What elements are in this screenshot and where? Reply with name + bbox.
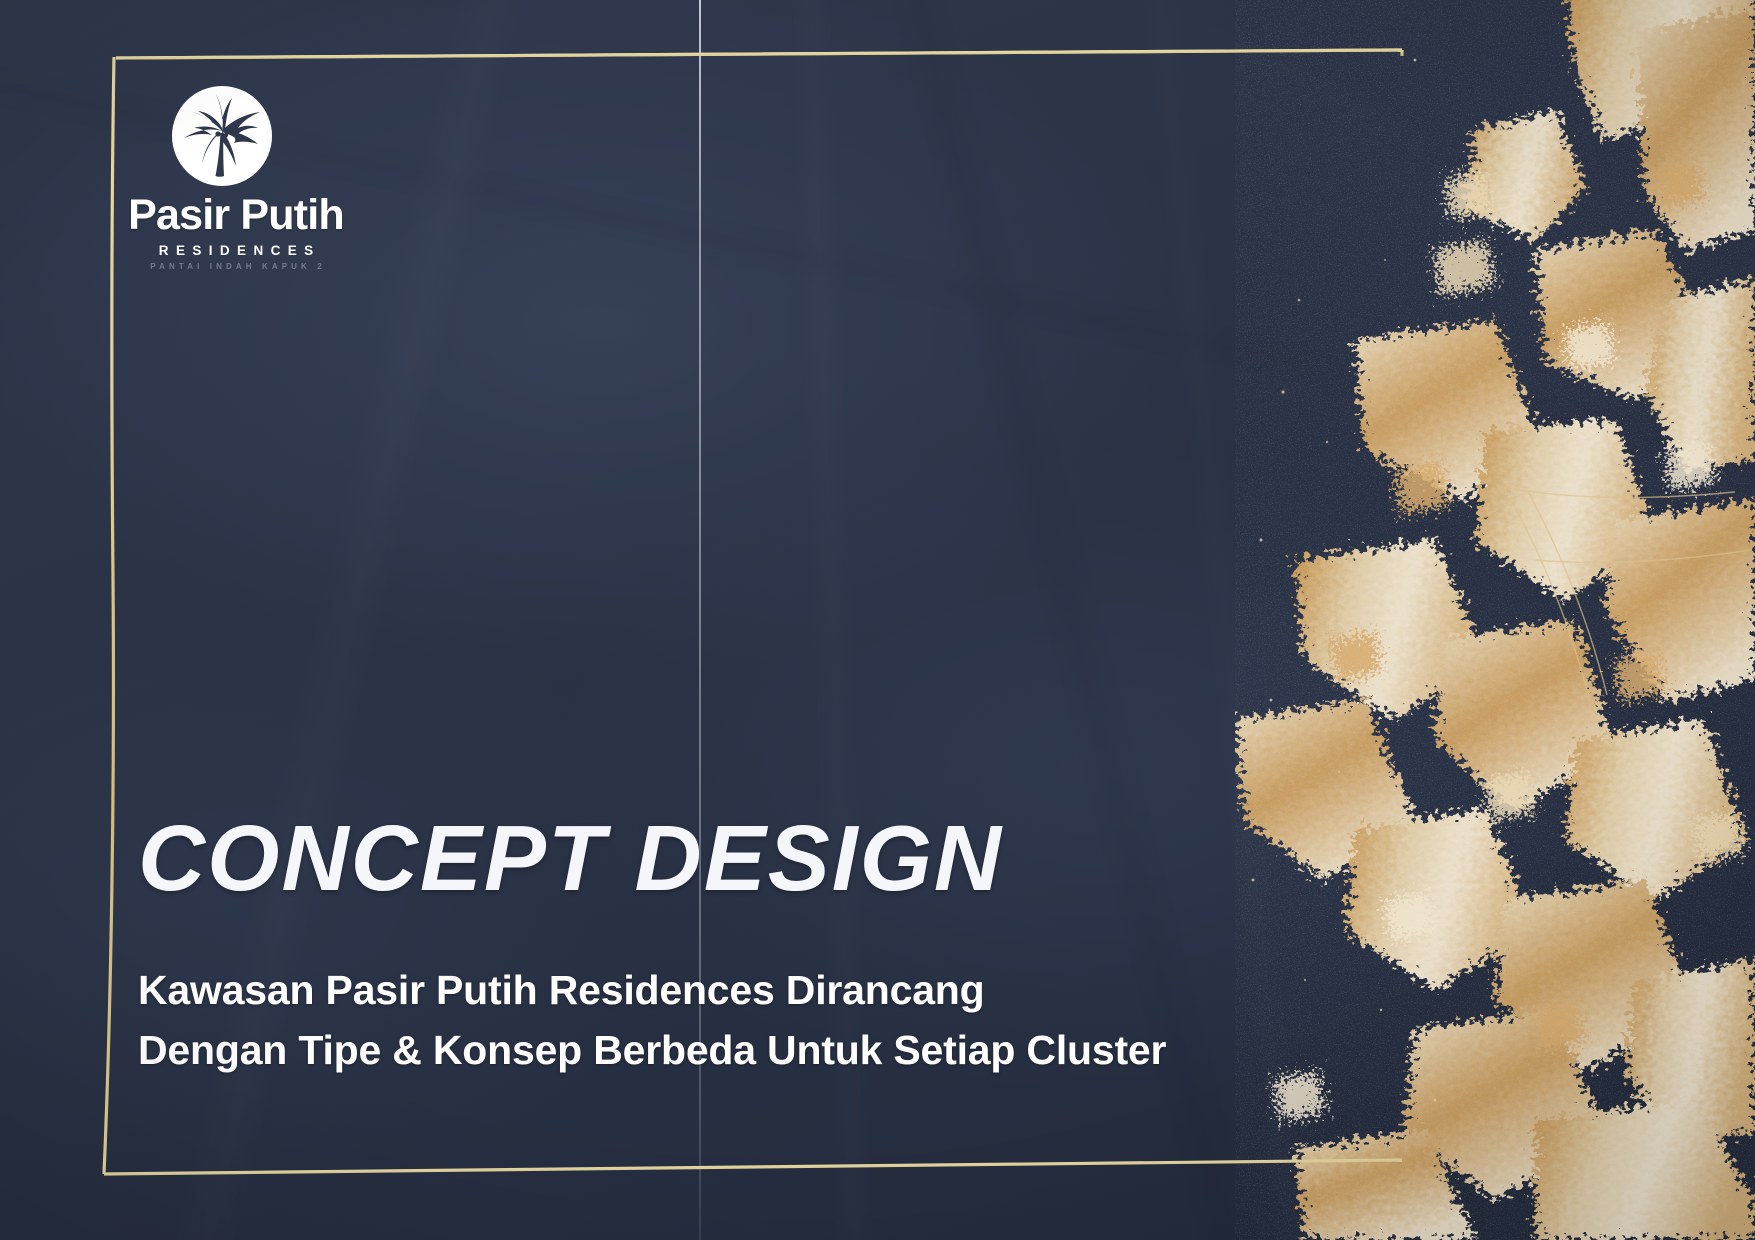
- vignette-overlay: [0, 0, 1755, 1240]
- concept-design-slide: Pasir Putih RESIDENCES PANTAI INDAH KAPU…: [0, 0, 1755, 1240]
